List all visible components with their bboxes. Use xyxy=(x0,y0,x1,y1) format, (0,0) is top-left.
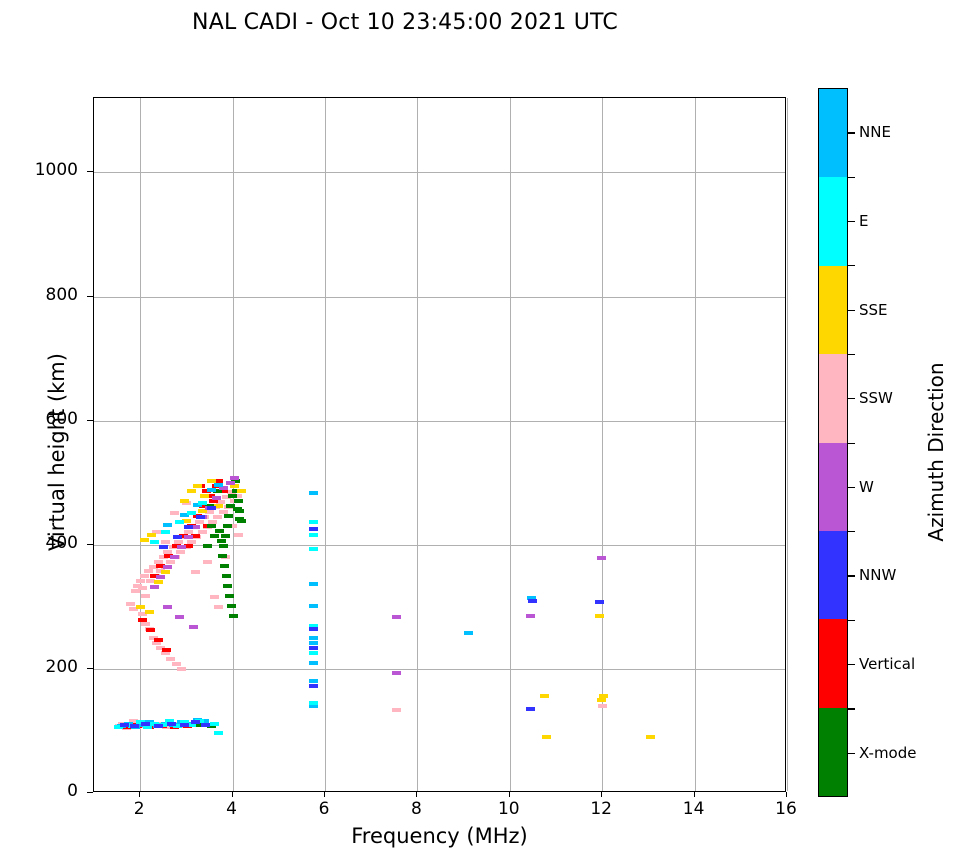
x-tick xyxy=(694,792,695,797)
data-mark xyxy=(163,523,172,527)
data-mark xyxy=(170,555,179,559)
colorbar-segment-sse xyxy=(819,266,847,354)
colorbar-segment-nnw xyxy=(819,531,847,619)
data-mark xyxy=(464,631,473,635)
colorbar-segment-x-mode xyxy=(819,708,847,796)
y-tick-label: 0 xyxy=(8,781,78,801)
colorbar xyxy=(818,88,848,797)
colorbar-boundary-tick xyxy=(848,265,855,266)
data-mark xyxy=(595,600,604,604)
data-mark xyxy=(198,509,207,513)
data-mark xyxy=(309,684,318,688)
data-mark xyxy=(175,520,184,524)
data-mark xyxy=(120,723,129,727)
data-mark xyxy=(309,661,318,665)
data-mark xyxy=(196,515,205,519)
data-mark xyxy=(217,539,226,543)
colorbar-label-vertical: Vertical xyxy=(859,655,915,673)
x-tick-label: 12 xyxy=(571,799,631,819)
data-mark xyxy=(191,720,200,724)
data-mark xyxy=(200,494,209,498)
y-tick xyxy=(87,420,93,421)
data-mark xyxy=(177,545,186,549)
data-mark xyxy=(150,585,159,589)
colorbar-tick xyxy=(848,221,855,222)
data-mark xyxy=(166,657,175,661)
colorbar-label-nne: NNE xyxy=(859,123,891,141)
y-tick-label: 400 xyxy=(8,533,78,553)
colorbar-segment-nne xyxy=(819,89,847,177)
data-mark xyxy=(234,533,243,537)
x-tick xyxy=(232,792,233,797)
data-mark xyxy=(540,694,549,698)
data-mark xyxy=(234,499,243,503)
data-mark xyxy=(309,636,318,640)
colorbar-boundary-tick xyxy=(848,443,855,444)
colorbar-label-ssw: SSW xyxy=(859,389,893,407)
data-mark xyxy=(136,605,145,609)
colorbar-boundary-tick xyxy=(848,620,855,621)
y-axis-title: Virtual height (km) xyxy=(45,287,69,617)
colorbar-tick xyxy=(848,132,855,133)
data-mark xyxy=(140,538,149,542)
data-mark xyxy=(215,529,224,533)
data-mark xyxy=(159,545,168,549)
data-mark xyxy=(218,554,227,558)
data-mark xyxy=(309,651,318,655)
data-mark xyxy=(166,560,175,564)
colorbar-tick xyxy=(848,398,855,399)
data-mark xyxy=(162,648,171,652)
data-mark xyxy=(207,524,216,528)
data-mark xyxy=(143,725,152,729)
colorbar-boundary-tick xyxy=(848,531,855,532)
data-mark xyxy=(646,735,655,739)
x-tick xyxy=(324,792,325,797)
data-mark xyxy=(223,584,232,588)
data-mark xyxy=(198,501,207,505)
colorbar-boundary-tick xyxy=(848,354,855,355)
data-mark xyxy=(214,483,223,487)
page-title: NAL CADI - Oct 10 23:45:00 2021 UTC xyxy=(0,10,810,35)
data-mark xyxy=(235,517,244,521)
data-mark xyxy=(597,698,606,702)
data-mark xyxy=(141,722,150,726)
data-mark xyxy=(210,595,219,599)
colorbar-tick xyxy=(848,310,855,311)
y-tick-label: 200 xyxy=(8,657,78,677)
data-mark xyxy=(209,499,218,503)
data-mark xyxy=(184,525,193,529)
data-mark xyxy=(309,701,318,705)
data-mark xyxy=(214,731,223,735)
data-mark xyxy=(392,708,401,712)
data-mark xyxy=(309,646,318,650)
data-mark xyxy=(230,476,239,480)
colorbar-tick xyxy=(848,575,855,576)
data-mark xyxy=(392,615,401,619)
data-mark xyxy=(526,707,535,711)
data-mark xyxy=(170,511,179,515)
data-mark xyxy=(226,481,235,485)
x-tick-label: 6 xyxy=(294,799,354,819)
data-mark xyxy=(309,627,318,631)
y-tick xyxy=(87,171,93,172)
colorbar-segment-ssw xyxy=(819,354,847,442)
data-mark xyxy=(309,491,318,495)
data-mark xyxy=(230,484,239,488)
data-mark xyxy=(176,550,185,554)
plot-area xyxy=(93,97,786,792)
data-mark xyxy=(237,489,246,493)
data-mark xyxy=(167,722,176,726)
data-mark xyxy=(225,594,234,598)
data-mark xyxy=(126,602,135,606)
x-tick-label: 10 xyxy=(479,799,539,819)
data-mark xyxy=(163,565,172,569)
colorbar-tick xyxy=(848,753,855,754)
colorbar-boundary-tick xyxy=(848,177,855,178)
data-mark xyxy=(138,586,147,590)
data-mark xyxy=(154,724,163,728)
colorbar-title: Azimuth Direction xyxy=(924,322,948,582)
data-mark xyxy=(140,574,149,578)
data-mark xyxy=(146,628,155,632)
data-mark xyxy=(228,494,237,498)
colorbar-label-x-mode: X-mode xyxy=(859,744,916,762)
data-mark xyxy=(213,515,222,519)
data-mark xyxy=(392,671,401,675)
data-mark xyxy=(222,574,231,578)
data-mark xyxy=(309,547,318,551)
data-mark xyxy=(309,527,318,531)
x-tick xyxy=(601,792,602,797)
data-mark xyxy=(223,524,232,528)
data-mark xyxy=(595,614,604,618)
colorbar-tick xyxy=(848,664,855,665)
data-mark xyxy=(219,544,228,548)
data-mark xyxy=(309,641,318,645)
x-tick-label: 14 xyxy=(664,799,724,819)
data-mark xyxy=(221,534,230,538)
data-mark xyxy=(172,662,181,666)
data-mark xyxy=(154,580,163,584)
data-mark xyxy=(227,604,236,608)
x-tick xyxy=(509,792,510,797)
data-mark xyxy=(150,540,159,544)
data-mark xyxy=(193,484,202,488)
y-tick xyxy=(87,544,93,545)
x-axis-title: Frequency (MHz) xyxy=(93,824,786,848)
data-mark xyxy=(309,582,318,586)
data-mark xyxy=(138,618,147,622)
data-mark xyxy=(173,535,182,539)
data-mark xyxy=(207,506,216,510)
colorbar-segment-vertical xyxy=(819,619,847,707)
data-mark xyxy=(599,694,608,698)
data-mark xyxy=(598,704,607,708)
data-mark xyxy=(214,605,223,609)
colorbar-label-sse: SSE xyxy=(859,301,888,319)
data-mark xyxy=(309,604,318,608)
y-tick xyxy=(87,296,93,297)
data-mark xyxy=(542,735,551,739)
data-mark xyxy=(220,564,229,568)
gridline-x xyxy=(787,98,788,791)
data-mark xyxy=(203,560,212,564)
y-tick-label: 1000 xyxy=(8,160,78,180)
data-mark xyxy=(207,488,216,492)
data-mark xyxy=(177,667,186,671)
data-mark xyxy=(156,575,165,579)
colorbar-label-e: E xyxy=(859,212,868,230)
colorbar-label-nnw: NNW xyxy=(859,566,896,584)
x-tick-label: 16 xyxy=(756,799,816,819)
data-mark xyxy=(136,579,145,583)
data-marks-layer xyxy=(94,98,785,791)
colorbar-label-w: W xyxy=(859,478,874,496)
data-mark xyxy=(224,514,233,518)
data-mark xyxy=(597,556,606,560)
data-mark xyxy=(203,544,212,548)
data-mark xyxy=(233,507,242,511)
colorbar-segment-w xyxy=(819,443,847,531)
data-mark xyxy=(161,530,170,534)
y-tick-label: 600 xyxy=(8,409,78,429)
data-mark xyxy=(526,614,535,618)
data-mark xyxy=(187,489,196,493)
data-mark xyxy=(191,570,200,574)
colorbar-segment-e xyxy=(819,177,847,265)
x-tick-label: 2 xyxy=(109,799,169,819)
y-tick xyxy=(87,668,93,669)
data-mark xyxy=(175,615,184,619)
y-tick xyxy=(87,792,93,793)
data-mark xyxy=(180,499,189,503)
x-tick xyxy=(139,792,140,797)
data-mark xyxy=(528,599,537,603)
data-mark xyxy=(229,614,238,618)
colorbar-tick xyxy=(848,487,855,488)
data-mark xyxy=(309,679,318,683)
data-mark xyxy=(210,722,219,726)
data-mark xyxy=(187,511,196,515)
colorbar-boundary-tick xyxy=(848,708,855,709)
x-tick xyxy=(416,792,417,797)
data-mark xyxy=(154,638,163,642)
data-mark xyxy=(201,723,210,727)
data-mark xyxy=(161,570,170,574)
x-tick-label: 4 xyxy=(202,799,262,819)
y-tick-label: 800 xyxy=(8,285,78,305)
data-mark xyxy=(189,625,198,629)
data-mark xyxy=(163,605,172,609)
data-mark xyxy=(161,540,170,544)
x-tick-label: 8 xyxy=(386,799,446,819)
data-mark xyxy=(180,723,189,727)
data-mark xyxy=(145,610,154,614)
data-mark xyxy=(141,594,150,598)
x-tick xyxy=(786,792,787,797)
data-mark xyxy=(130,724,139,728)
data-mark xyxy=(212,496,221,500)
data-mark xyxy=(184,535,193,539)
data-mark xyxy=(309,533,318,537)
data-mark xyxy=(210,534,219,538)
data-mark xyxy=(309,520,318,524)
data-mark xyxy=(147,533,156,537)
